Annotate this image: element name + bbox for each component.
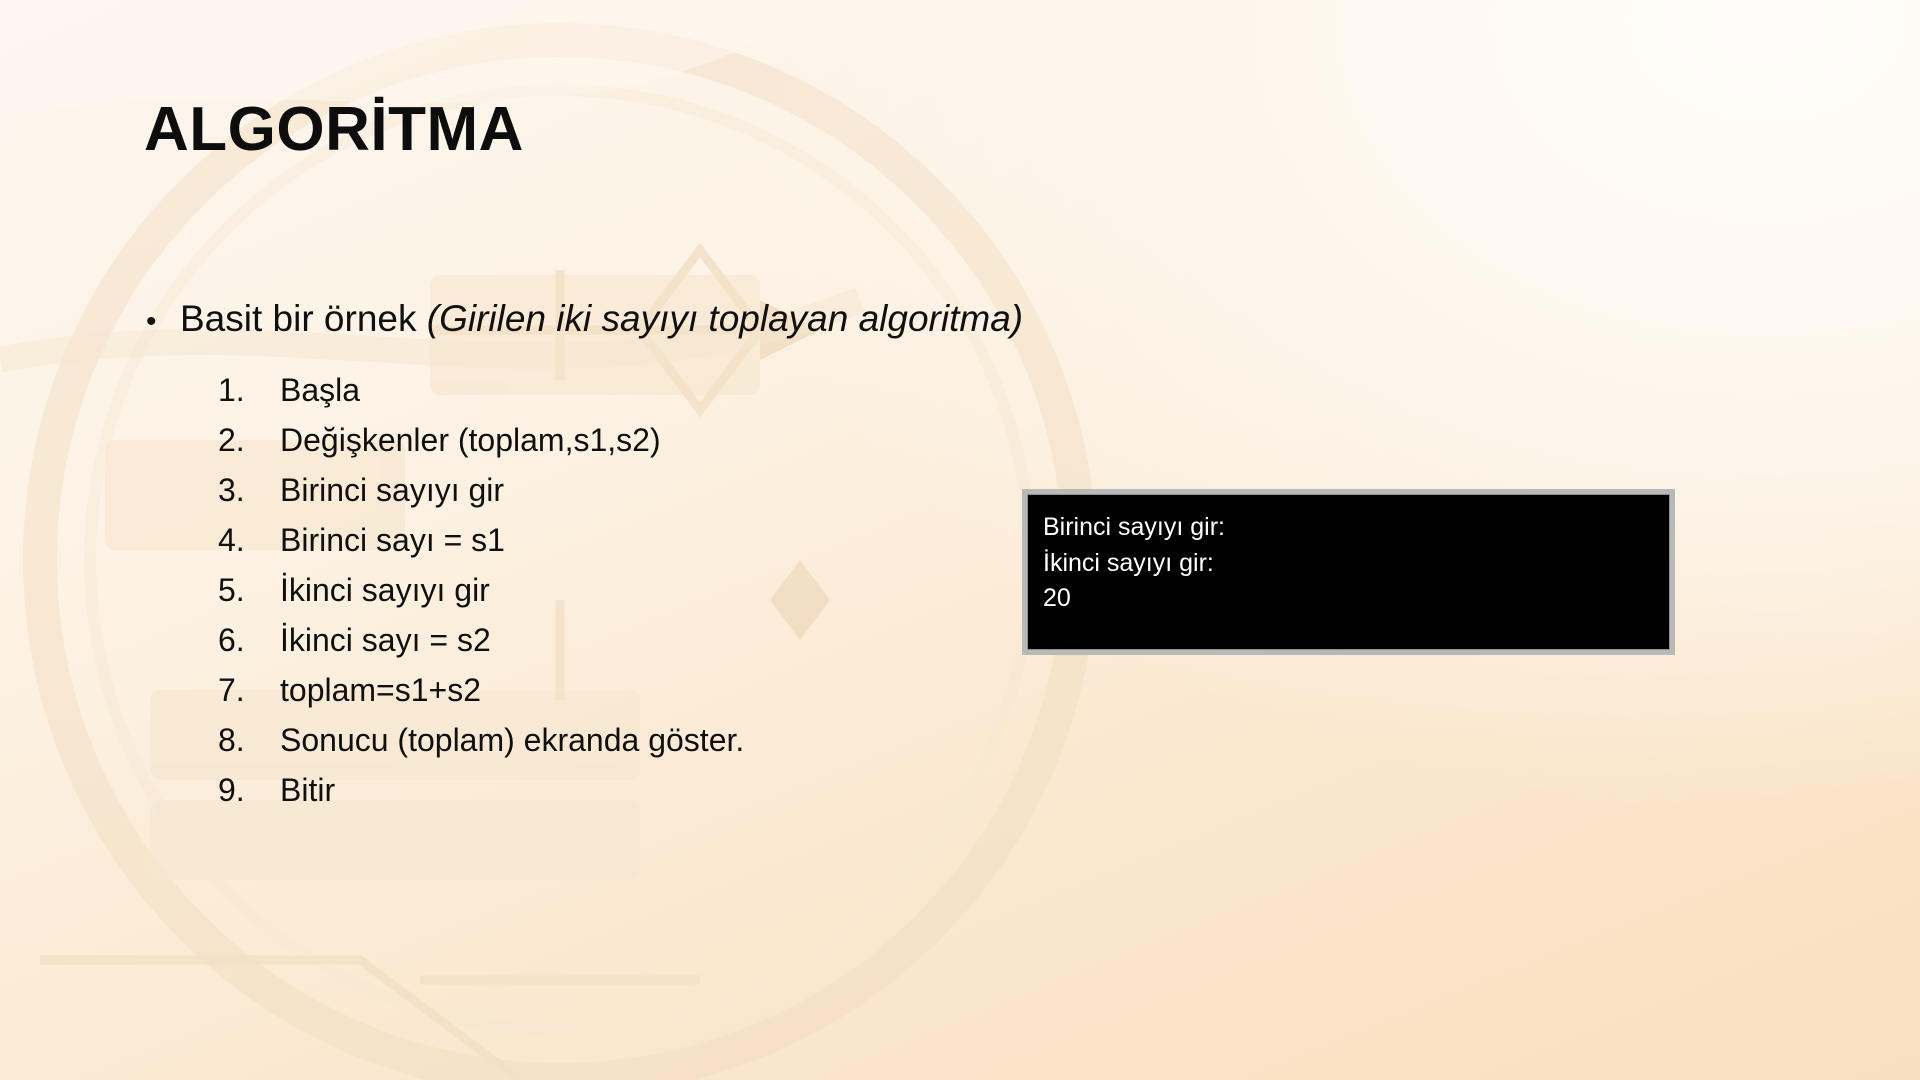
console-output-box: Birinci sayıyı gir: İkinci sayıyı gir: 2… [1022, 489, 1675, 655]
console-line: 20 [1043, 581, 1670, 617]
step-number: 2. [218, 422, 280, 459]
presentation-slide: ALGORİTMA •Basit bir örnek (Girilen iki … [0, 0, 1920, 1080]
step-text: Birinci sayı = s1 [280, 522, 505, 559]
algorithm-steps-list: 1. Başla 2. Değişkenler (toplam,s1,s2) 3… [218, 372, 744, 822]
step-text: Bitir [280, 772, 335, 809]
watermark-arrow [760, 300, 830, 640]
list-item: 9. Bitir [218, 772, 744, 822]
step-number: 8. [218, 722, 280, 759]
step-number: 7. [218, 672, 280, 709]
bullet-line: •Basit bir örnek (Girilen iki sayıyı top… [146, 296, 1023, 342]
step-text: Değişkenler (toplam,s1,s2) [280, 422, 661, 459]
page-title: ALGORİTMA [144, 96, 524, 164]
bullet-text-plain: Basit bir örnek [180, 298, 427, 339]
console-line: Birinci sayıyı gir: [1043, 510, 1670, 546]
step-number: 1. [218, 372, 280, 409]
list-item: 5. İkinci sayıyı gir [218, 572, 744, 622]
step-text: toplam=s1+s2 [280, 672, 481, 709]
console-line: İkinci sayıyı gir: [1043, 546, 1670, 582]
step-number: 4. [218, 522, 280, 559]
list-item: 2. Değişkenler (toplam,s1,s2) [218, 422, 744, 472]
step-number: 5. [218, 572, 280, 609]
bullet-marker: • [146, 303, 180, 341]
step-number: 3. [218, 472, 280, 509]
list-item: 4. Birinci sayı = s1 [218, 522, 744, 572]
list-item: 7. toplam=s1+s2 [218, 672, 744, 722]
list-item: 6. İkinci sayı = s2 [218, 622, 744, 672]
list-item: 3. Birinci sayıyı gir [218, 472, 744, 522]
step-text: Sonucu (toplam) ekranda göster. [280, 722, 744, 759]
step-text: Başla [280, 372, 360, 409]
step-text: Birinci sayıyı gir [280, 472, 504, 509]
step-number: 6. [218, 622, 280, 659]
bullet-text-italic: (Girilen iki sayıyı toplayan algoritma) [427, 298, 1023, 339]
list-item: 8. Sonucu (toplam) ekranda göster. [218, 722, 744, 772]
step-text: İkinci sayı = s2 [280, 622, 491, 659]
step-text: İkinci sayıyı gir [280, 572, 490, 609]
step-number: 9. [218, 772, 280, 809]
list-item: 1. Başla [218, 372, 744, 422]
